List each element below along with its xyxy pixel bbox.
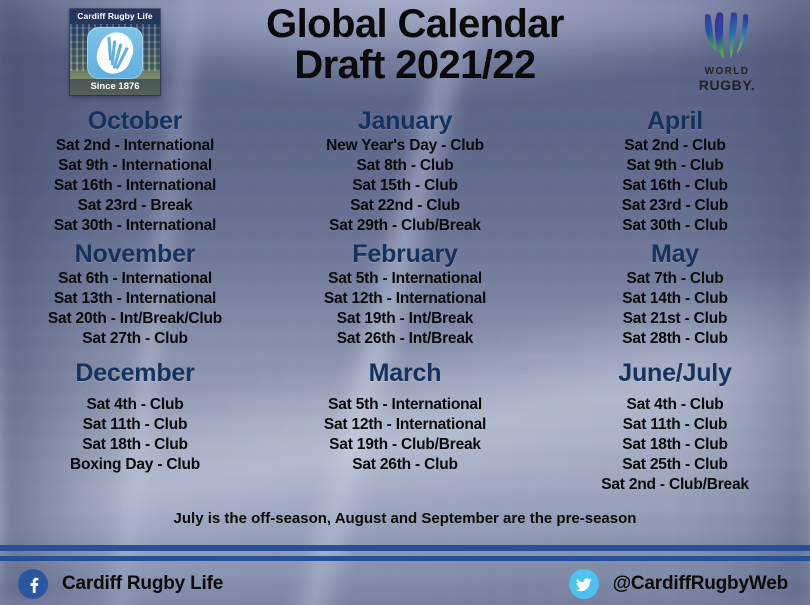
calendar-entry: Sat 7th - Club	[540, 269, 810, 289]
month-block: NovemberSat 6th - InternationalSat 13th …	[0, 239, 270, 349]
calendar-entry: Sat 25th - Club	[540, 455, 810, 475]
month-name: January	[270, 106, 540, 136]
world-rugby-wordmark: WORLD RUGBY.	[680, 67, 774, 92]
calendar-entry: Sat 12th - International	[270, 415, 540, 435]
month-block: JanuaryNew Year's Day - ClubSat 8th - Cl…	[270, 106, 540, 236]
calendar-entry: Sat 14th - Club	[540, 289, 810, 309]
title-line-1: Global Calendar	[170, 4, 660, 45]
global-calendar-poster: Cardiff Rugby Life Since 1876 Global Cal…	[0, 0, 810, 605]
month-name: April	[540, 106, 810, 136]
calendar-entry: Sat 4th - Club	[540, 395, 810, 415]
calendar-entry: Sat 19th - Club/Break	[270, 435, 540, 455]
calendar-entry: Boxing Day - Club	[0, 455, 270, 475]
calendar-entry: Sat 11th - Club	[540, 415, 810, 435]
month-name: June/July	[540, 358, 810, 388]
calendar-entry: Sat 18th - Club	[540, 435, 810, 455]
month-block: AprilSat 2nd - ClubSat 9th - ClubSat 16t…	[540, 106, 810, 236]
calendar-entry: Sat 2nd - Club/Break	[540, 475, 810, 495]
calendar-entry: Sat 9th - International	[0, 156, 270, 176]
calendar-entry: Sat 8th - Club	[270, 156, 540, 176]
calendar-entry: Sat 26th - Club	[270, 455, 540, 475]
month-block: MarchSat 5th - InternationalSat 12th - I…	[270, 358, 540, 475]
world-rugby-line-2: RUGBY.	[680, 78, 774, 93]
calendar-entry: Sat 27th - Club	[0, 329, 270, 349]
poster-header: Cardiff Rugby Life Since 1876 Global Cal…	[0, 0, 810, 104]
calendar-entry: Sat 5th - International	[270, 269, 540, 289]
calendar-entry: Sat 29th - Club/Break	[270, 216, 540, 236]
world-rugby-logo: WORLD RUGBY.	[680, 10, 774, 96]
month-name: May	[540, 239, 810, 269]
world-rugby-line-1: WORLD	[680, 67, 774, 78]
calendar-entry: Sat 19th - Int/Break	[270, 309, 540, 329]
facebook-handle-label[interactable]: Cardiff Rugby Life	[62, 573, 223, 595]
facebook-link[interactable]: Cardiff Rugby Life	[18, 569, 223, 599]
calendar-entry: Sat 22nd - Club	[270, 196, 540, 216]
calendar-entry: Sat 20th - Int/Break/Club	[0, 309, 270, 329]
month-name: March	[270, 358, 540, 388]
calendar-entry: Sat 16th - Club	[540, 176, 810, 196]
month-name: November	[0, 239, 270, 269]
month-name: February	[270, 239, 540, 269]
calendar-column: OctoberSat 2nd - InternationalSat 9th - …	[0, 104, 270, 504]
facebook-icon[interactable]	[18, 569, 48, 599]
calendar-entry: New Year's Day - Club	[270, 136, 540, 156]
calendar-entry: Sat 4th - Club	[0, 395, 270, 415]
calendar-entry: Sat 23rd - Break	[0, 196, 270, 216]
calendar-entry: Sat 18th - Club	[0, 435, 270, 455]
calendar-entry: Sat 13th - International	[0, 289, 270, 309]
month-block: FebruarySat 5th - InternationalSat 12th …	[270, 239, 540, 349]
month-block: OctoberSat 2nd - InternationalSat 9th - …	[0, 106, 270, 236]
calendar-entry: Sat 2nd - Club	[540, 136, 810, 156]
poster-content: Cardiff Rugby Life Since 1876 Global Cal…	[0, 0, 810, 605]
twitter-icon[interactable]	[569, 569, 599, 599]
calendar-entry: Sat 9th - Club	[540, 156, 810, 176]
calendar-column: AprilSat 2nd - ClubSat 9th - ClubSat 16t…	[540, 104, 810, 504]
title-line-2: Draft 2021/22	[170, 45, 660, 86]
season-note: July is the off-season, August and Septe…	[0, 510, 810, 527]
page-title: Global Calendar Draft 2021/22	[170, 4, 660, 86]
calendar-grid: OctoberSat 2nd - InternationalSat 9th - …	[0, 104, 810, 504]
calendar-entry: Sat 12th - International	[270, 289, 540, 309]
world-rugby-shield-icon	[697, 12, 757, 66]
twitter-link[interactable]: @CardiffRugbyWeb	[569, 569, 788, 599]
poster-footer: Cardiff Rugby Life @CardiffRugbyWeb	[0, 561, 810, 605]
cardiff-rugby-life-logo: Cardiff Rugby Life Since 1876	[70, 9, 160, 95]
rugby-ball-icon	[91, 27, 138, 79]
month-name: December	[0, 358, 270, 388]
calendar-entry: Sat 15th - Club	[270, 176, 540, 196]
calendar-entry: Sat 30th - International	[0, 216, 270, 236]
logo-badge-tile	[87, 27, 143, 79]
twitter-handle-label[interactable]: @CardiffRugbyWeb	[613, 573, 788, 595]
calendar-entry: Sat 21st - Club	[540, 309, 810, 329]
calendar-entry: Sat 30th - Club	[540, 216, 810, 236]
month-block: DecemberSat 4th - ClubSat 11th - ClubSat…	[0, 358, 270, 475]
logo-bottom-label: Since 1876	[70, 79, 160, 95]
calendar-entry: Sat 23rd - Club	[540, 196, 810, 216]
calendar-entry: Sat 28th - Club	[540, 329, 810, 349]
month-block: June/JulySat 4th - ClubSat 11th - ClubSa…	[540, 358, 810, 495]
month-block: MaySat 7th - ClubSat 14th - ClubSat 21st…	[540, 239, 810, 349]
calendar-entry: Sat 5th - International	[270, 395, 540, 415]
calendar-column: JanuaryNew Year's Day - ClubSat 8th - Cl…	[270, 104, 540, 504]
calendar-entry: Sat 2nd - International	[0, 136, 270, 156]
month-name: October	[0, 106, 270, 136]
divider-stripe-top	[0, 545, 810, 551]
calendar-entry: Sat 16th - International	[0, 176, 270, 196]
calendar-entry: Sat 11th - Club	[0, 415, 270, 435]
logo-top-label: Cardiff Rugby Life	[70, 9, 160, 24]
calendar-entry: Sat 26th - Int/Break	[270, 329, 540, 349]
calendar-entry: Sat 6th - International	[0, 269, 270, 289]
